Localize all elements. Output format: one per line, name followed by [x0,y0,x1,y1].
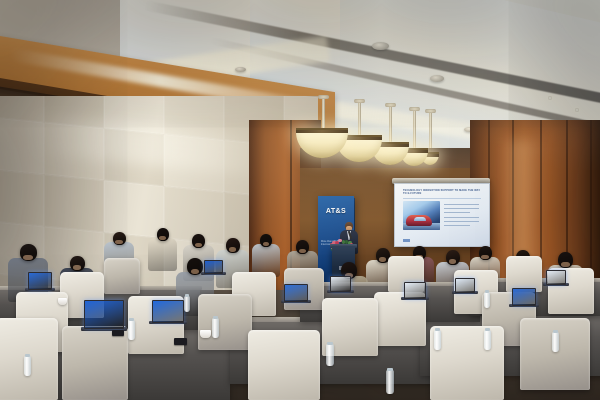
laptop-screen [152,300,184,323]
person-neck-skin [481,255,488,260]
coffee-cup [200,330,211,338]
ceiling-downlight [575,108,579,112]
pendant-rod [429,112,432,152]
pendant-rod [413,110,416,148]
slide-text-line [444,208,479,209]
slide-car-windshield [414,217,426,221]
bottle-cap [25,354,29,357]
slide-divider [403,198,481,199]
pendant-rod [358,102,361,135]
water-bottle [326,344,334,366]
conference-chair [62,326,128,400]
conference-chair [374,292,426,346]
water-bottle [128,320,135,340]
water-bottle [386,370,394,394]
bottle-cap [435,328,439,331]
person-neck-skin [23,255,33,261]
person-torso [148,238,177,271]
laptop-screen [28,272,52,290]
laptop-screen [404,282,426,299]
ceiling-vent [372,42,389,50]
slide-car [406,215,432,226]
bottle-cap [553,330,557,333]
pendant-rod [322,98,325,128]
smartphone [174,338,187,345]
water-bottle [434,330,441,350]
slide-text-line [444,217,479,218]
bottle-cap [213,316,217,319]
bottle-cap [387,368,392,371]
conference-chair [506,256,542,292]
bottle-cap [327,342,332,345]
ceiling-vent [235,67,246,72]
smartphone [112,330,124,336]
slide-text-line [444,221,479,222]
ceiling-downlight [548,96,552,100]
slide-text-line [444,225,470,226]
water-bottle [24,356,31,376]
slide-text-line [444,212,470,213]
pendant-rod [389,106,392,142]
water-bottle [552,332,559,352]
bottle-cap [485,290,489,293]
coffee-cup [58,298,67,305]
ats-logo: AT&S [318,208,354,215]
laptop-screen [512,288,536,306]
slide-footer-logo [403,239,410,242]
bottle-cap [129,318,133,321]
conference-chair [520,318,590,390]
laptop-screen [84,300,124,329]
water-bottle [212,318,219,338]
conference-chair [248,330,320,400]
pendant-ceiling-cap [318,95,329,99]
laptop-screen [455,278,475,293]
pendant-ceiling-cap [385,103,396,107]
projection-screen: TECHNOLOGY INNOVATION SUPPORT TO MAKE TH… [394,183,490,247]
pendant-rim [296,130,348,133]
laptop-screen [204,260,223,274]
pendant-ceiling-cap [425,109,436,113]
conference-chair [430,326,504,400]
conference-chair [104,258,140,294]
slide-title: TECHNOLOGY INNOVATION SUPPORT TO MAKE TH… [403,189,481,196]
pendant-ceiling-cap [354,99,365,103]
conference-chair [198,294,252,350]
laptop-screen [284,284,308,302]
slide-image-ev-car [403,201,440,230]
laptop-screen [546,270,566,285]
audience-member [148,228,177,274]
water-bottle [184,296,190,312]
slide-text-line [444,204,479,205]
person-neck-skin [561,262,569,267]
water-bottle [484,330,491,350]
flower-petal [338,239,341,242]
conference-room-photo: TECHNOLOGY INNOVATION SUPPORT TO MAKE TH… [0,0,600,400]
bottle-cap [185,294,189,297]
water-bottle [484,292,490,308]
ceiling-vent [430,75,444,82]
bottle-cap [485,328,489,331]
laptop-screen [330,276,351,292]
pendant-ceiling-cap [409,107,420,111]
